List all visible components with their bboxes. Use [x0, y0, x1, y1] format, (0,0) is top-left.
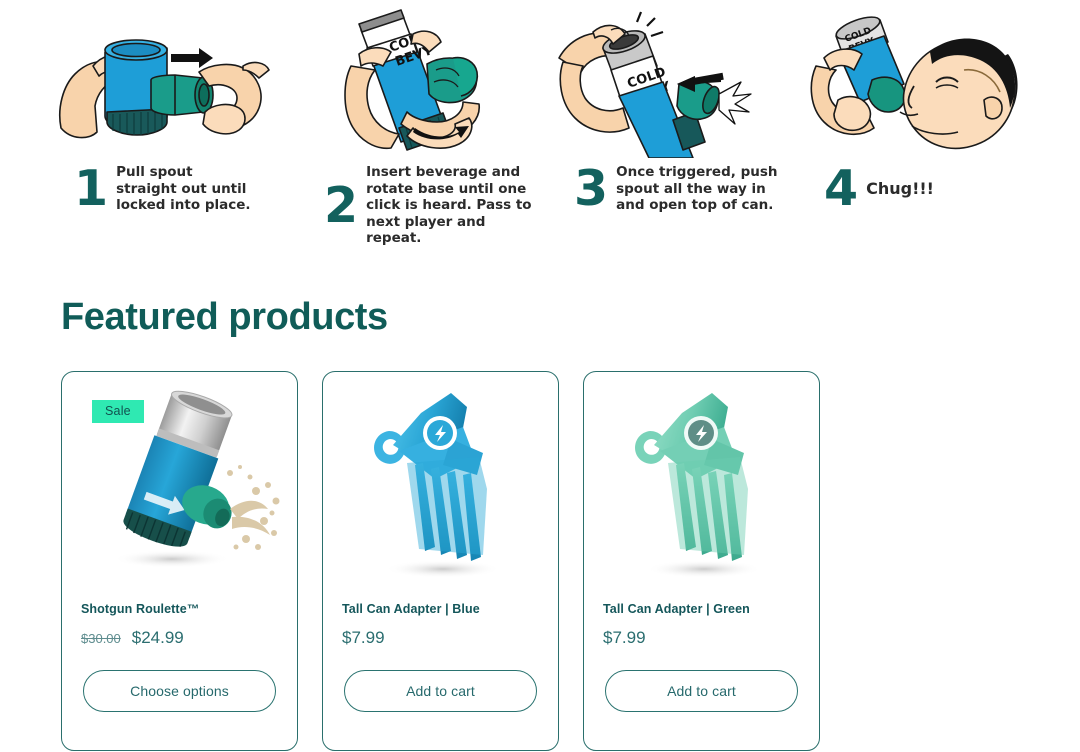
- product-price-row: $7.99: [603, 628, 800, 648]
- add-to-cart-button[interactable]: Add to cart: [344, 670, 537, 712]
- step-1-text: Pull spout straight out until locked int…: [116, 164, 250, 214]
- add-to-cart-button[interactable]: Add to cart: [605, 670, 798, 712]
- product-page: 1 Pull spout straight out until locked i…: [0, 0, 1080, 752]
- step-2-number: 2: [324, 181, 357, 230]
- instructions-strip: 1 Pull spout straight out until locked i…: [0, 0, 1080, 247]
- sale-badge: Sale: [92, 400, 144, 423]
- instruction-step-4: COLD BEVY: [790, 8, 1040, 247]
- product-price-original: $30.00: [81, 631, 121, 646]
- instruction-step-1: 1 Pull spout straight out until locked i…: [40, 8, 290, 247]
- product-card[interactable]: Tall Can Adapter | Green $7.99 Add to ca…: [583, 371, 820, 751]
- step-2-caption: 2 Insert beverage and rotate base until …: [290, 164, 540, 247]
- product-image-shotgun-roulette[interactable]: Sale: [62, 372, 297, 600]
- product-image-tall-can-adapter-green[interactable]: [584, 372, 819, 600]
- product-title[interactable]: Tall Can Adapter | Green: [603, 602, 800, 616]
- step-3-number: 3: [574, 164, 607, 213]
- step-1-caption: 1 Pull spout straight out until locked i…: [40, 164, 290, 214]
- product-title[interactable]: Shotgun Roulette™: [81, 602, 278, 616]
- product-price-row: $7.99: [342, 628, 539, 648]
- product-info: Shotgun Roulette™ $30.00 $24.99 Choose o…: [62, 602, 297, 712]
- step-4-illustration: COLD BEVY: [790, 8, 1040, 158]
- step-1-illustration: [40, 8, 290, 158]
- step-3-text: Once triggered, push spout all the way i…: [616, 164, 777, 214]
- step-1-number: 1: [74, 164, 107, 213]
- product-title[interactable]: Tall Can Adapter | Blue: [342, 602, 539, 616]
- product-price-row: $30.00 $24.99: [81, 628, 278, 648]
- featured-products-grid: Sale: [61, 371, 820, 751]
- product-price: $7.99: [603, 628, 646, 648]
- product-price: $7.99: [342, 628, 385, 648]
- instruction-step-3: COLD BEVY: [540, 8, 790, 247]
- step-4-number: 4: [824, 164, 857, 213]
- product-info: Tall Can Adapter | Blue $7.99 Add to car…: [323, 602, 558, 712]
- step-2-text: Insert beverage and rotate base until on…: [366, 164, 540, 247]
- product-price-sale: $24.99: [132, 628, 184, 648]
- featured-products-heading: Featured products: [61, 296, 388, 339]
- instruction-step-2: COLD BEVY: [290, 8, 540, 247]
- step-4-text: Chug!!!: [866, 179, 934, 199]
- step-4-caption: 4 Chug!!!: [790, 164, 1040, 213]
- step-3-caption: 3 Once triggered, push spout all the way…: [540, 164, 790, 214]
- choose-options-button[interactable]: Choose options: [83, 670, 276, 712]
- step-2-illustration: COLD BEVY: [290, 8, 540, 158]
- product-card[interactable]: Tall Can Adapter | Blue $7.99 Add to car…: [322, 371, 559, 751]
- product-image-tall-can-adapter-blue[interactable]: [323, 372, 558, 600]
- product-card[interactable]: Sale: [61, 371, 298, 751]
- step-3-illustration: COLD BEVY: [540, 8, 790, 158]
- product-info: Tall Can Adapter | Green $7.99 Add to ca…: [584, 602, 819, 712]
